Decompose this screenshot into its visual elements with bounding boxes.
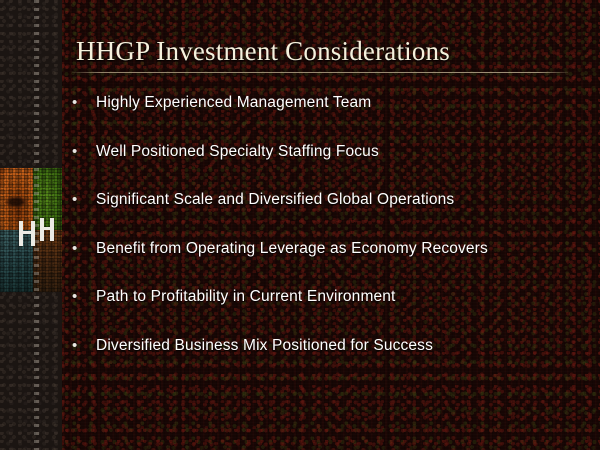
bullet-item: •Path to Profitability in Current Enviro… [72, 286, 396, 308]
bullet-text: Diversified Business Mix Positioned for … [96, 335, 433, 357]
bullet-marker-icon: • [72, 286, 96, 308]
bullet-item: •Highly Experienced Management Team [72, 92, 371, 114]
bullet-list: •Highly Experienced Management Team•Well… [0, 0, 600, 450]
bullet-item: •Significant Scale and Diversified Globa… [72, 189, 454, 211]
bullet-text: Well Positioned Specialty Staffing Focus [96, 141, 379, 163]
bullet-marker-icon: • [72, 335, 96, 357]
bullet-marker-icon: • [72, 141, 96, 163]
bullet-text: Path to Profitability in Current Environ… [96, 286, 396, 308]
bullet-text: Highly Experienced Management Team [96, 92, 371, 114]
bullet-marker-icon: • [72, 189, 96, 211]
bullet-marker-icon: • [72, 238, 96, 260]
bullet-text: Significant Scale and Diversified Global… [96, 189, 454, 211]
bullet-item: •Diversified Business Mix Positioned for… [72, 335, 433, 357]
bullet-item: •Benefit from Operating Leverage as Econ… [72, 238, 488, 260]
bullet-text: Benefit from Operating Leverage as Econo… [96, 238, 488, 260]
bullet-marker-icon: • [72, 92, 96, 114]
bullet-item: •Well Positioned Specialty Staffing Focu… [72, 141, 379, 163]
presentation-slide: HHGP Investment Considerations •Highly E… [0, 0, 600, 450]
